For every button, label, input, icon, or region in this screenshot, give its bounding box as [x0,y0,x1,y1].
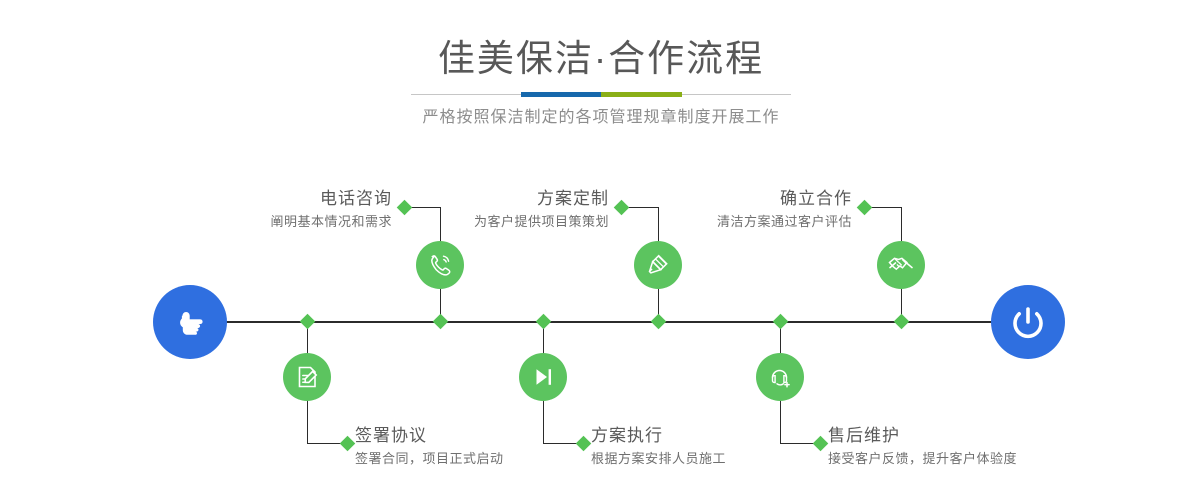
step-label-title-4: 方案执行 [591,425,726,447]
step-marker-label-5 [857,200,873,216]
step-label-desc-3: 为客户提供项目策策划 [400,212,609,232]
document-edit-icon [293,363,321,391]
pencil-ruler-icon [644,251,672,279]
step-marker-axis-6 [773,314,789,330]
flow-diagram-page: 佳美保洁·合作流程 严格按照保洁制定的各项管理规章制度开展工作 [0,0,1202,502]
step-label-title-1: 电话咨询 [180,188,392,210]
title-divider [411,92,791,97]
step-node-6 [756,353,804,401]
step-marker-label-2 [340,436,356,452]
step-label-title-6: 售后维护 [828,425,1017,447]
timeline-start-endpoint [153,285,227,359]
step-node-2 [283,353,331,401]
step-marker-axis-4 [536,314,552,330]
page-subtitle: 严格按照保洁制定的各项管理规章制度开展工作 [0,106,1202,130]
step-label-4: 方案执行 根据方案安排人员施工 [591,425,726,469]
step-label-title-5: 确立合作 [640,188,852,210]
step-label-5: 确立合作 清洁方案通过客户评估 [640,188,852,232]
divider-segment-blue [521,92,601,97]
step-marker-axis-5 [894,314,910,330]
step-label-desc-6: 接受客户反馈，提升客户体验度 [828,449,1017,469]
step-label-6: 售后维护 接受客户反馈，提升客户体验度 [828,425,1017,469]
power-icon [1006,300,1050,344]
step-node-5 [877,241,925,289]
phone-call-icon [425,250,455,280]
step-marker-label-3 [614,200,630,216]
step-label-desc-4: 根据方案安排人员施工 [591,449,726,469]
page-title: 佳美保洁·合作流程 [0,36,1202,82]
step-node-3 [634,241,682,289]
step-label-title-2: 签署协议 [355,425,504,447]
step-label-desc-5: 清洁方案通过客户评估 [640,212,852,232]
step-marker-axis-3 [651,314,667,330]
pointing-hand-icon [169,301,211,343]
customer-service-add-icon [766,363,794,391]
play-execute-icon [529,363,557,391]
step-label-1: 电话咨询 阐明基本情况和需求 [180,188,392,232]
step-label-desc-2: 签署合同，项目正式启动 [355,449,504,469]
step-marker-axis-2 [300,314,316,330]
step-label-2: 签署协议 签署合同，项目正式启动 [355,425,504,469]
step-label-desc-1: 阐明基本情况和需求 [180,212,392,232]
timeline-end-endpoint [991,285,1065,359]
step-label-3: 方案定制 为客户提供项目策策划 [400,188,609,232]
handshake-icon [886,250,916,280]
step-node-1 [416,241,464,289]
step-marker-axis-1 [433,314,449,330]
divider-segment-green [601,92,682,97]
step-marker-label-6 [813,436,829,452]
step-marker-label-4 [576,436,592,452]
step-node-4 [519,353,567,401]
